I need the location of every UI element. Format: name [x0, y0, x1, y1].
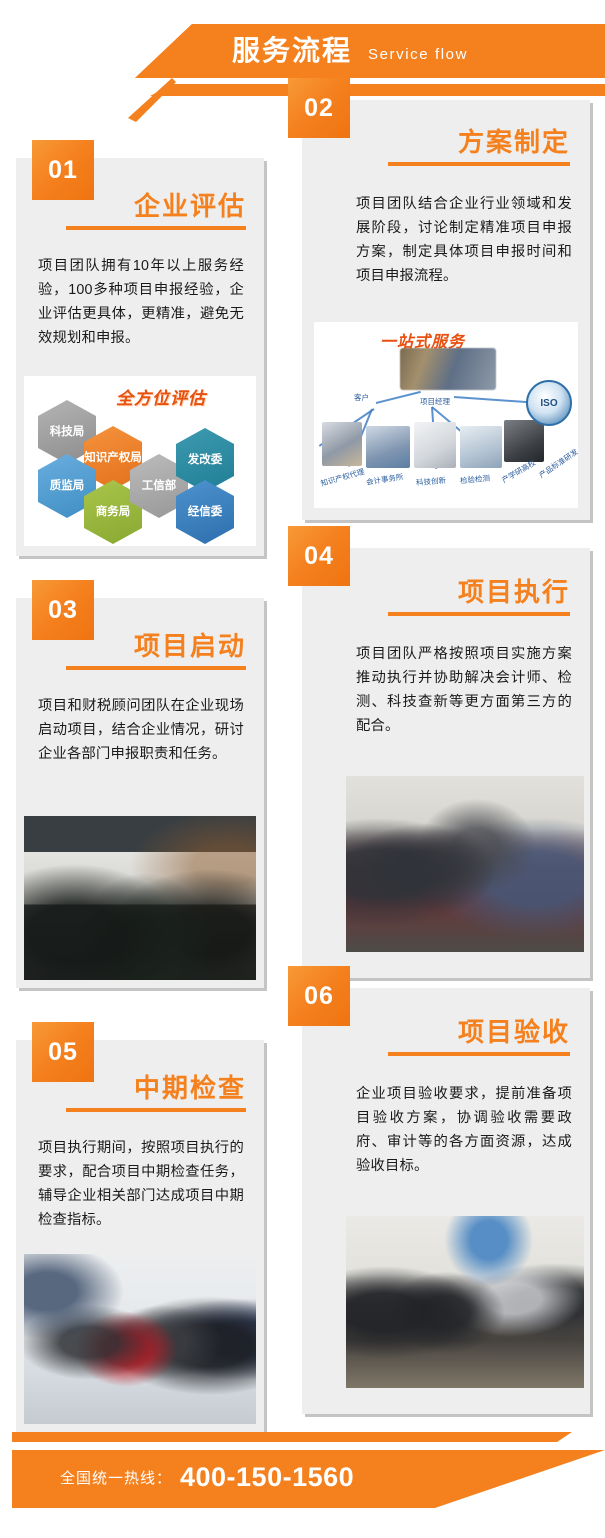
team-photo-thumb [400, 348, 496, 390]
step-card-02: 02 方案制定 项目团队结合企业行业领域和发展阶段，讨论制定精准项目申报方案，制… [302, 100, 590, 520]
meeting-working-photo [346, 776, 584, 952]
hotline-label: 全国统一热线： [60, 1464, 172, 1494]
step-card-03: 03 项目启动 项目和财税顾问团队在企业现场启动项目，结合企业情况，研讨企业各部… [16, 598, 264, 988]
step-description: 企业项目验收要求，提前准备项目验收方案，协调验收需要政府、审计等的各方面资源，达… [356, 1082, 572, 1178]
photo-content [346, 1216, 584, 1388]
step-card-04: 04 项目执行 项目团队严格按照项目实施方案推动执行并协助解决会计师、检测、科技… [302, 548, 590, 978]
thumb-ip-agency [322, 422, 362, 466]
label-inspection: 检验检测 [460, 472, 491, 486]
step-number-badge: 02 [288, 78, 350, 138]
hex-diagram-title: 全方位评估 [116, 384, 206, 409]
title-underline [388, 612, 570, 616]
showroom-visit-photo [24, 1254, 256, 1424]
label-tech-innovation: 科技创新 [416, 475, 447, 489]
step-card-01: 01 企业评估 项目团队拥有10年以上服务经验，100多种项目申报经验，企业评估… [16, 158, 264, 556]
page-title: 服务流程 [232, 30, 352, 72]
thumb-university-research [504, 420, 544, 462]
label-accounting-firm: 会计事务所 [365, 471, 404, 488]
step-number-badge: 04 [288, 526, 350, 586]
label-project-manager: 项目经理 [420, 396, 450, 407]
all-round-assessment-diagram: 全方位评估 科技局 知识产权局 质监局 商务局 工信部 发改委 经信委 [24, 376, 256, 546]
step-description: 项目执行期间，按照项目执行的要求，配合项目中期检查任务，辅导企业相关部门达成项目… [38, 1136, 244, 1232]
title-underline [388, 1052, 570, 1056]
title-underline [388, 162, 570, 166]
conference-room-photo [24, 816, 256, 980]
page-subtitle: Service flow [368, 40, 468, 70]
step-description: 项目团队拥有10年以上服务经验，100多种项目申报经验，企业评估更具体，更精准，… [38, 254, 244, 350]
title-underline [66, 666, 246, 670]
page-footer: 全国统一热线： 400-150-1560 [0, 1418, 605, 1538]
title-underline [66, 1108, 246, 1112]
step-title: 项目验收 [458, 1012, 570, 1049]
hotline-number[interactable]: 400-150-1560 [180, 1458, 354, 1496]
thumb-tech-innovation [414, 422, 456, 468]
label-ip-agency: 知识产权代理 [319, 466, 365, 489]
step-title: 企业评估 [134, 186, 246, 223]
step-card-05: 05 中期检查 项目执行期间，按照项目执行的要求，配合项目中期检查任务，辅导企业… [16, 1040, 264, 1434]
photo-content [24, 1254, 256, 1424]
step-title: 方案制定 [458, 122, 570, 159]
step-number-badge: 03 [32, 580, 94, 640]
photo-content [24, 816, 256, 980]
step-title: 项目执行 [458, 572, 570, 609]
boardroom-photo [346, 1216, 584, 1388]
iso-seal-icon: ISO [526, 380, 572, 426]
title-underline [66, 226, 246, 230]
step-card-06: 06 项目验收 企业项目验收要求，提前准备项目验收方案，协调验收需要政府、审计等… [302, 988, 590, 1414]
photo-content [346, 776, 584, 952]
one-stop-service-diagram: 一站式服务 客户 项目经理 知识产权代理 会计事务所 科技创新 检验检测 产学研… [314, 322, 578, 508]
thumb-inspection [460, 426, 502, 468]
header-chevron-shape [128, 78, 176, 122]
step-description: 项目和财税顾问团队在企业现场启动项目，结合企业情况，研讨企业各部门申报职责和任务… [38, 694, 244, 766]
step-number-badge: 05 [32, 1022, 94, 1082]
label-client: 客户 [354, 392, 369, 403]
step-title: 中期检查 [134, 1068, 246, 1105]
step-title: 项目启动 [134, 626, 246, 663]
step-description: 项目团队结合企业行业领域和发展阶段，讨论制定精准项目申报方案，制定具体项目申报时… [356, 192, 572, 288]
step-description: 项目团队严格按照项目实施方案推动执行并协助解决会计师、检测、科技查新等更方面第三… [356, 642, 572, 738]
flow-arrow [376, 391, 421, 404]
thumb-accounting-firm [366, 426, 410, 468]
footer-chevron-shape [430, 1432, 510, 1442]
step-number-badge: 06 [288, 966, 350, 1026]
header-accent-stripe [150, 84, 605, 96]
step-number-badge: 01 [32, 140, 94, 200]
